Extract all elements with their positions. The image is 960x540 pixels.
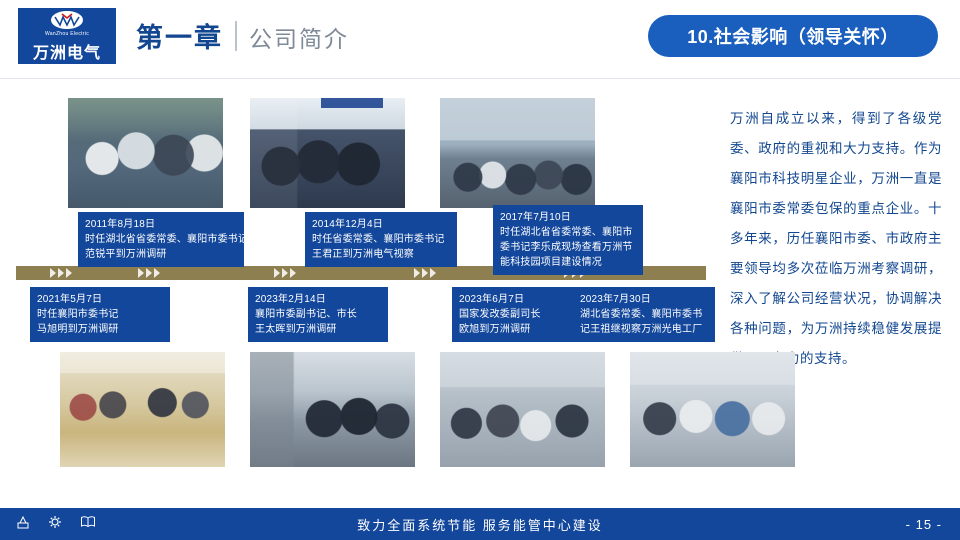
logo-english-name: WanZhou Electric [45, 31, 89, 37]
caption-date: 2014年12月4日 [312, 217, 450, 232]
chevron-right-icon [66, 268, 72, 278]
caption-line-2: 湖北省委常委、襄阳市委书 [580, 307, 708, 322]
caption-line-3: 马旭明到万洲调研 [37, 322, 163, 337]
timeline-caption-bottom-4: 2023年7月30日 湖北省委常委、襄阳市委书 记王祖继视察万洲光电工厂 [573, 287, 715, 342]
caption-line-2: 时任省委常委、襄阳市委书记 [312, 232, 450, 247]
caption-line-2: 襄阳市委副书记、市长 [255, 307, 381, 322]
caption-date: 2011年8月18日 [85, 217, 237, 232]
timeline-photo-bottom-2 [250, 352, 415, 467]
section-badge: 10.社会影响（领导关怀） [648, 15, 938, 57]
chevron-right-icon [138, 268, 144, 278]
chevron-right-icon [282, 268, 288, 278]
caption-line-4: 能科技园项目建设情况 [500, 255, 636, 270]
timeline-caption-bottom-2: 2023年2月14日 襄阳市委副书记、市长 王太晖到万洲调研 [248, 287, 388, 342]
chevron-right-icon [154, 268, 160, 278]
chevron-right-icon [414, 268, 420, 278]
caption-line-2: 时任襄阳市委书记 [37, 307, 163, 322]
timeline-photo-bottom-1 [60, 352, 225, 467]
caption-date: 2023年2月14日 [255, 292, 381, 307]
slide-root: WanZhou Electric 万洲电气 第一章 公司简介 10.社会影响（领… [0, 0, 960, 540]
header-divider [0, 78, 960, 79]
caption-line-2: 时任湖北省省委常委、襄阳市委书记 [85, 232, 237, 247]
section-badge-label: 10.社会影响（领导关怀） [687, 23, 899, 49]
timeline-caption-bottom-3: 2023年6月7日 国家发改委副司长 欧旭到万洲调研 [452, 287, 582, 342]
chevron-right-icon [58, 268, 64, 278]
wanzhou-logo-icon [50, 10, 84, 30]
description-paragraph: 万洲自成立以来，得到了各级党委、政府的重视和大力支持。作为襄阳市科技明星企业，万… [730, 104, 942, 374]
chevron-right-icon [422, 268, 428, 278]
chevron-right-icon [50, 268, 56, 278]
caption-line-3: 欧旭到万洲调研 [459, 322, 575, 337]
company-logo: WanZhou Electric 万洲电气 [18, 8, 116, 64]
caption-line-3: 王太晖到万洲调研 [255, 322, 381, 337]
logo-chinese-name: 万洲电气 [33, 39, 101, 63]
caption-line-2: 国家发改委副司长 [459, 307, 575, 322]
chapter-divider [235, 21, 237, 51]
caption-line-3: 委书记李乐成现场查看万洲节 [500, 240, 636, 255]
chevron-right-icon [274, 268, 280, 278]
timeline-photo-bottom-3 [440, 352, 605, 467]
page-number: - 15 - [906, 517, 942, 532]
chapter-heading: 第一章 公司简介 [136, 16, 349, 55]
chapter-title: 第一章 [136, 16, 223, 55]
caption-line-3: 记王祖继视察万洲光电工厂 [580, 322, 708, 337]
timeline-photo-bottom-4 [630, 352, 795, 467]
caption-date: 2023年7月30日 [580, 292, 708, 307]
timeline-photo-top-1 [68, 98, 223, 208]
caption-line-3: 范锐平到万洲调研 [85, 247, 237, 262]
timeline-caption-top-2: 2014年12月4日 时任省委常委、襄阳市委书记 王君正到万洲电气视察 [305, 212, 457, 267]
caption-date: 2021年5月7日 [37, 292, 163, 307]
caption-date: 2017年7月10日 [500, 210, 636, 225]
slide-footer: 致力全面系统节能 服务能管中心建设 - 15 - [0, 508, 960, 540]
chevron-right-icon [290, 268, 296, 278]
chapter-subtitle: 公司简介 [249, 20, 349, 54]
timeline-photo-top-2 [250, 98, 405, 208]
caption-line-2: 时任湖北省省委常委、襄阳市 [500, 225, 636, 240]
caption-line-3: 王君正到万洲电气视察 [312, 247, 450, 262]
timeline-caption-top-3: 2017年7月10日 时任湖北省省委常委、襄阳市 委书记李乐成现场查看万洲节 能… [493, 205, 643, 275]
chevron-right-icon [146, 268, 152, 278]
timeline-photo-top-3 [440, 98, 595, 208]
timeline-caption-top-1: 2011年8月18日 时任湖北省省委常委、襄阳市委书记 范锐平到万洲调研 [78, 212, 244, 267]
description-text: 万洲自成立以来，得到了各级党委、政府的重视和大力支持。作为襄阳市科技明星企业，万… [730, 104, 942, 374]
timeline-caption-bottom-1: 2021年5月7日 时任襄阳市委书记 马旭明到万洲调研 [30, 287, 170, 342]
footer-slogan: 致力全面系统节能 服务能管中心建设 [0, 515, 960, 534]
chevron-right-icon [430, 268, 436, 278]
caption-date: 2023年6月7日 [459, 292, 575, 307]
